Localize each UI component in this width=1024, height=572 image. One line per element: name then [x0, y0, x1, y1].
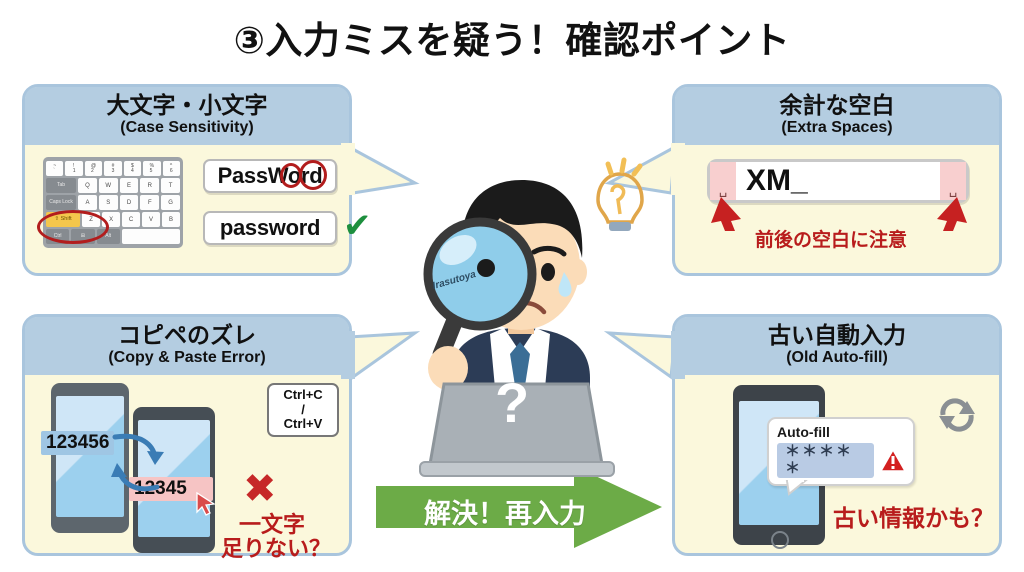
extra-spaces-note: 前後の空白に注意: [755, 225, 907, 252]
mouse-cursor-icon: [197, 493, 219, 519]
key-tab: Tab: [46, 178, 76, 193]
key-4: $4: [124, 161, 141, 176]
key-1: !1: [65, 161, 82, 176]
page-title: ③入力ミスを疑う！確認ポイント: [0, 10, 1024, 64]
panel-extra-spaces-title-jp: 余計な空白: [679, 93, 995, 119]
wrong-password-box: PassWord: [203, 159, 337, 193]
keyboard-row: Tab Q W E R T: [46, 178, 180, 193]
key-e: E: [120, 178, 139, 193]
key-w: W: [99, 178, 118, 193]
correct-mark-check: ✔: [343, 209, 372, 243]
panel-auto-fill-title-en: (Old Auto-fill): [679, 349, 995, 367]
key-q: Q: [78, 178, 97, 193]
shortcut-separator: /: [276, 403, 330, 418]
panel-auto-fill-header: 古い自動入力 (Old Auto-fill): [675, 317, 999, 375]
autofill-suggestion-bubble[interactable]: Auto-fill ＊＊＊＊＊: [767, 417, 915, 486]
auto-fill-note: 古い情報かも？: [833, 499, 994, 533]
copy-paste-error-x: ✖: [243, 469, 277, 509]
panel-case-sensitivity-title-en: (Case Sensitivity): [29, 119, 345, 137]
key-r: R: [140, 178, 159, 193]
key-f: F: [140, 195, 159, 210]
leading-space-arrow: [707, 197, 751, 231]
key-z: Z: [82, 212, 100, 227]
warning-triangle-icon: [880, 449, 905, 473]
trailing-space-marker: ␣: [940, 162, 966, 200]
key-a: A: [78, 195, 97, 210]
key-tilde: ~`: [46, 161, 63, 176]
shortcut-copy-label: Ctrl+C: [276, 388, 330, 403]
panel-case-sensitivity: 大文字・小文字 (Case Sensitivity) ~` !1 @2 #3 $…: [22, 84, 352, 276]
source-number: 123456: [41, 431, 114, 455]
key-x: X: [102, 212, 120, 227]
panel-extra-spaces-body: ␣ XM_ ␣ 前後の空白に注意: [675, 145, 999, 273]
key-2: @2: [85, 161, 102, 176]
key-space: [122, 229, 180, 244]
key-c: C: [122, 212, 140, 227]
keyboard-row: ⇧ Shift Z X C V B: [46, 212, 180, 227]
masked-password-value: ＊＊＊＊＊: [777, 443, 874, 478]
refresh-sync-icon: [933, 393, 981, 437]
key-win: ⊞: [71, 229, 94, 244]
key-b: B: [162, 212, 180, 227]
panel-case-sensitivity-body: ~` !1 @2 #3 $4 %5 ^6 Tab Q W E R T: [25, 145, 349, 273]
copy-paste-arrows: [111, 427, 171, 493]
keyboard-illustration: ~` !1 @2 #3 $4 %5 ^6 Tab Q W E R T: [43, 157, 183, 248]
key-d: D: [120, 195, 139, 210]
key-t: T: [161, 178, 180, 193]
panel-auto-fill-title-jp: 古い自動入力: [679, 323, 995, 349]
correct-password-box: password: [203, 211, 337, 245]
trailing-space-arrow: [927, 197, 971, 231]
key-shift-highlighted: ⇧ Shift: [46, 212, 80, 227]
autofill-bubble-row: ＊＊＊＊＊: [777, 443, 905, 478]
key-capslock: Caps Lock: [46, 195, 76, 210]
autofill-bubble-title: Auto-fill: [777, 424, 905, 440]
panel-copy-paste-body: 123456 12345 Ctrl+C / Ctrl+V ✖ 一文字 足りない？: [25, 375, 349, 553]
panel-copy-paste-header: コピペのズレ (Copy & Paste Error): [25, 317, 349, 375]
copy-paste-note-line2: 足りない？: [221, 531, 331, 563]
panel-case-sensitivity-header: 大文字・小文字 (Case Sensitivity): [25, 87, 349, 145]
shortcut-paste-label: Ctrl+V: [276, 417, 330, 432]
key-6: ^6: [163, 161, 180, 176]
panel-extra-spaces-header: 余計な空白 (Extra Spaces): [675, 87, 999, 145]
key-g: G: [161, 195, 180, 210]
field-value-text: XM_: [736, 164, 940, 198]
keyboard-row: ~` !1 @2 #3 $4 %5 ^6: [46, 161, 180, 176]
panel-case-sensitivity-title-jp: 大文字・小文字: [29, 93, 345, 119]
lightbulb-idea-icon: [578, 152, 648, 230]
key-3: #3: [104, 161, 121, 176]
keyboard-row: Caps Lock A S D F G: [46, 195, 180, 210]
phone-home-button: [769, 531, 791, 549]
key-ctrl: Ctrl: [46, 229, 69, 244]
key-5: %5: [143, 161, 160, 176]
bubble-tail: [787, 481, 807, 495]
panel-copy-paste-title-en: (Copy & Paste Error): [29, 349, 345, 367]
panel-extra-spaces: 余計な空白 (Extra Spaces) ␣ XM_ ␣ 前後の空白に注意: [672, 84, 1002, 276]
infographic-canvas: ③入力ミスを疑う！確認ポイント 大文字・小文字 (Case Sensitivit…: [0, 0, 1024, 572]
panel-auto-fill: 古い自動入力 (Old Auto-fill) Auto-fill ＊＊＊＊＊: [672, 314, 1002, 556]
solution-arrow-label: 解決！再入力: [424, 492, 586, 531]
panel-extra-spaces-title-en: (Extra Spaces): [679, 119, 995, 137]
key-alt: Alt: [97, 229, 120, 244]
keyboard-row: Ctrl ⊞ Alt: [46, 229, 180, 244]
panel-copy-paste: コピペのズレ (Copy & Paste Error) 123456 12345: [22, 314, 352, 556]
panel-copy-paste-title-jp: コピペのズレ: [29, 323, 345, 349]
key-s: S: [99, 195, 118, 210]
panel-auto-fill-body: Auto-fill ＊＊＊＊＊: [675, 375, 999, 553]
laptop-question-mark: ?: [495, 370, 529, 435]
key-v: V: [142, 212, 160, 227]
leading-space-marker: ␣: [710, 162, 736, 200]
copy-paste-shortcut-badge: Ctrl+C / Ctrl+V: [267, 383, 339, 437]
